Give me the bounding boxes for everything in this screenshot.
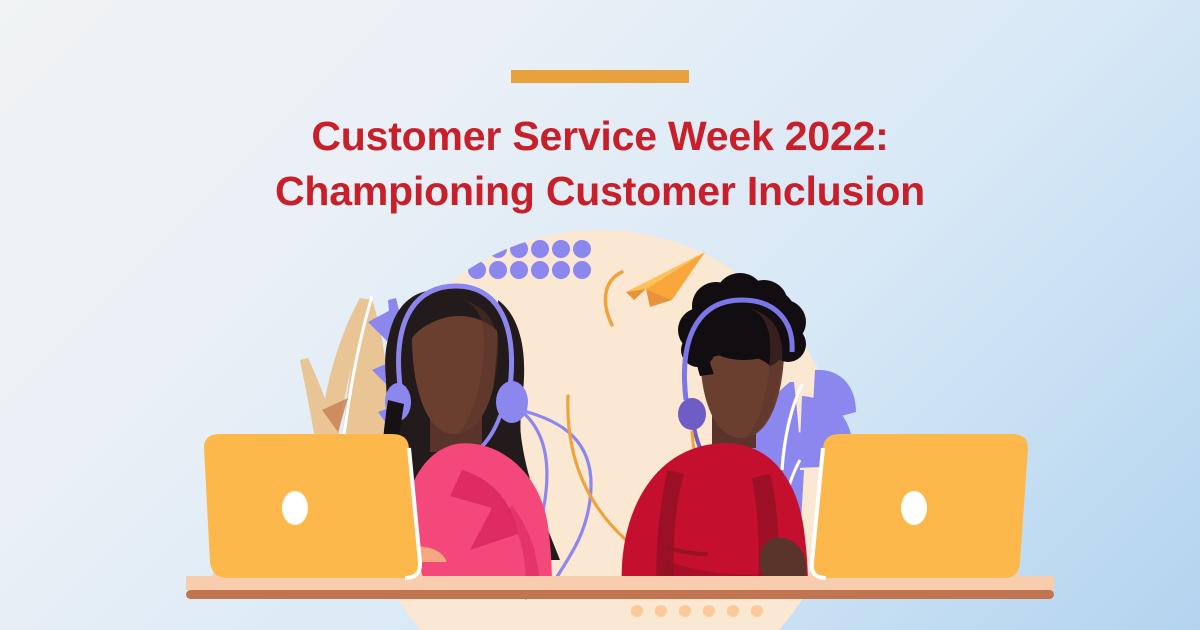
page-title: Customer Service Week 2022: Championing …: [120, 109, 1080, 218]
laptop-left-lid: [204, 434, 420, 578]
poster-header: Customer Service Week 2022: Championing …: [0, 0, 1200, 218]
poster-canvas: Customer Service Week 2022: Championing …: [0, 0, 1200, 630]
peach-dot-row: [631, 605, 763, 617]
laptop-left-logo: [282, 491, 308, 525]
headset-earcup-left: [678, 398, 706, 430]
page-title-line-2: Championing Customer Inclusion: [120, 164, 1080, 219]
page-title-line-1: Customer Service Week 2022:: [120, 109, 1080, 164]
laptop-right: [806, 434, 1028, 582]
accent-bar: [511, 70, 689, 83]
laptop-left: [204, 434, 424, 582]
desk-edge: [186, 590, 1054, 599]
laptop-right-logo: [901, 491, 927, 525]
